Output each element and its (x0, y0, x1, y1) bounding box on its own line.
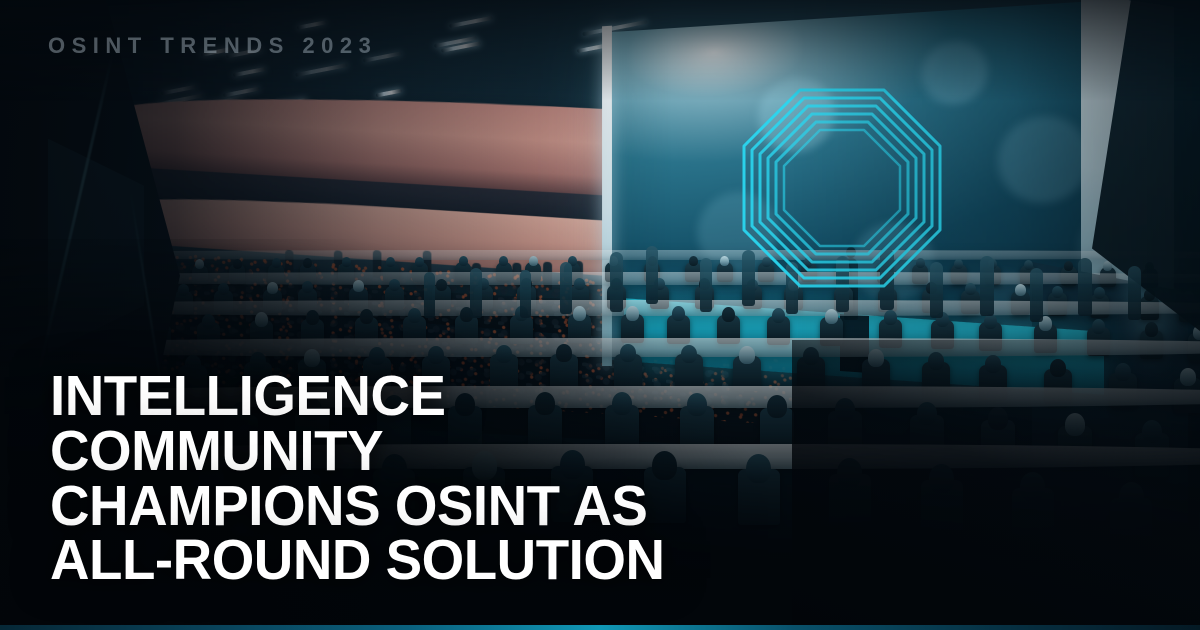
headline-line: CHAMPIONS OSINT AS (50, 479, 780, 534)
page-title: INTELLIGENCE COMMUNITY CHAMPIONS OSINT A… (50, 369, 780, 588)
headline-line: COMMUNITY (50, 424, 780, 479)
poster-canvas: OSINT TRENDS 2023 INTELLIGENCE COMMUNITY… (0, 0, 1200, 630)
headline-line: ALL-ROUND SOLUTION (50, 533, 780, 588)
bottom-accent-line (0, 625, 1200, 630)
headline-line: INTELLIGENCE (50, 369, 780, 424)
kicker-label: OSINT TRENDS 2023 (48, 33, 377, 59)
metadata-sidebar: HORIZON LONG-TERM TREND TYPE SOCIAL/ (820, 0, 1200, 630)
